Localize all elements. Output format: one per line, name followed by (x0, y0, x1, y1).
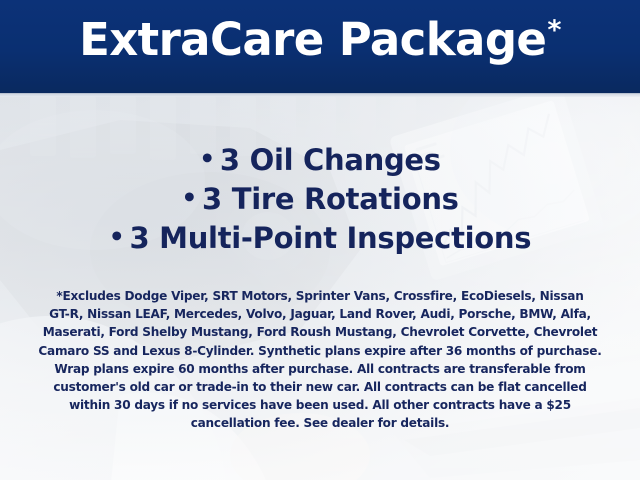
bullet-icon: • (181, 183, 197, 212)
disclaimer-text: *Excludes Dodge Viper, SRT Motors, Sprin… (28, 287, 612, 433)
benefit-item: •3 Multi-Point Inspections (0, 218, 640, 257)
disclaimer-line: GT-R, Nissan LEAF, Mercedes, Volvo, Jagu… (28, 305, 612, 323)
benefit-item: •3 Oil Changes (0, 140, 640, 179)
page-title: ExtraCare Package* (0, 17, 640, 62)
disclaimer-line: customer's old car or trade-in to their … (28, 378, 612, 396)
extracare-package-ad: ExtraCare Package* •3 Oil Changes •3 Tir… (0, 0, 640, 480)
page-title-asterisk: * (547, 15, 561, 46)
header-band: ExtraCare Package* (0, 0, 640, 93)
header-underline (0, 93, 640, 97)
disclaimer-line: Wrap plans expire 60 months after purcha… (28, 360, 612, 378)
page-title-text: ExtraCare Package (79, 13, 546, 66)
benefits-list: •3 Oil Changes •3 Tire Rotations •3 Mult… (0, 140, 640, 257)
benefit-item-label: 3 Oil Changes (220, 143, 441, 177)
disclaimer-line: within 30 days if no services have been … (28, 396, 612, 414)
disclaimer-line: Maserati, Ford Shelby Mustang, Ford Rous… (28, 323, 612, 341)
disclaimer-line: *Excludes Dodge Viper, SRT Motors, Sprin… (28, 287, 612, 305)
benefit-item: •3 Tire Rotations (0, 179, 640, 218)
disclaimer-line: Camaro SS and Lexus 8-Cylinder. Syntheti… (28, 342, 612, 360)
disclaimer-line: cancellation fee. See dealer for details… (28, 414, 612, 432)
benefit-item-label: 3 Multi-Point Inspections (129, 221, 531, 255)
bullet-icon: • (109, 222, 125, 251)
bullet-icon: • (199, 144, 215, 173)
benefit-item-label: 3 Tire Rotations (202, 182, 459, 216)
